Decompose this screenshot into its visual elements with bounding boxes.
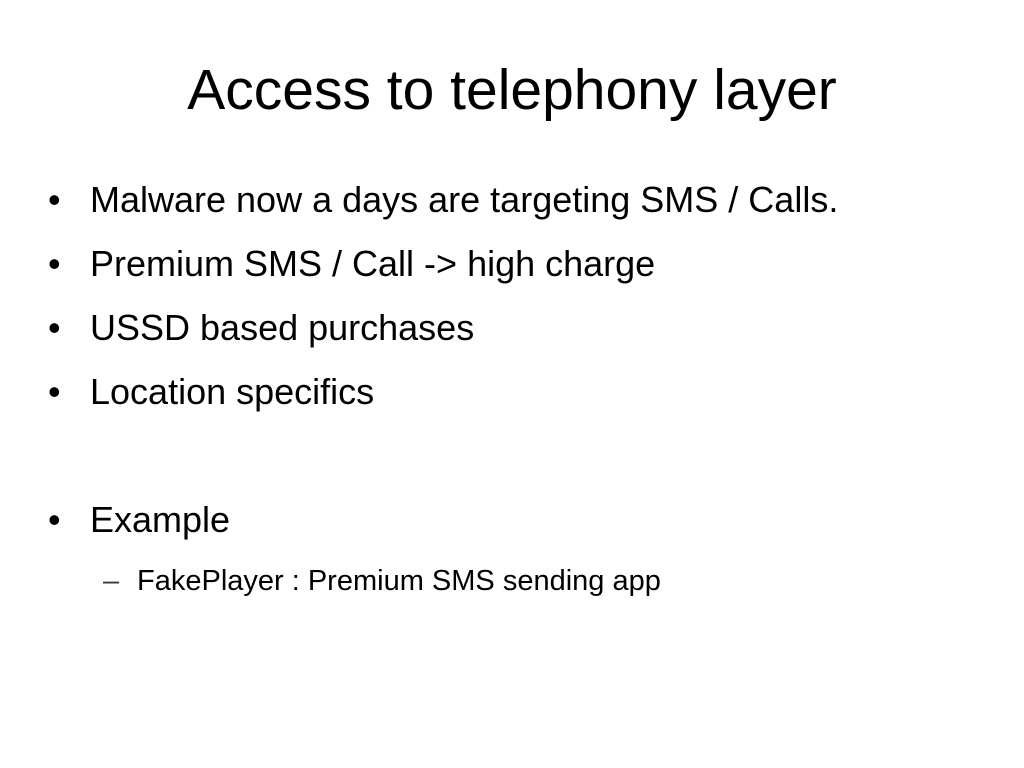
bullet-dot-icon: • — [48, 242, 90, 286]
list-item: • Example — [48, 498, 988, 562]
list-item-label: Location specifics — [90, 370, 988, 414]
list-item-label: Premium SMS / Call -> high charge — [90, 242, 988, 286]
bullet-dot-icon: • — [48, 306, 90, 350]
list-item: • Malware now a days are targeting SMS /… — [48, 178, 988, 242]
bullet-list: • Malware now a days are targeting SMS /… — [48, 178, 988, 620]
blank-line — [48, 434, 988, 498]
bullet-dash-icon: – — [103, 562, 137, 600]
sub-list-item: – FakePlayer : Premium SMS sending app — [48, 562, 988, 620]
presentation-slide: Access to telephony layer • Malware now … — [0, 0, 1024, 768]
sub-list-item-label: FakePlayer : Premium SMS sending app — [137, 562, 988, 600]
list-item: • USSD based purchases — [48, 306, 988, 370]
list-item-label: USSD based purchases — [90, 306, 988, 350]
list-item-label: Malware now a days are targeting SMS / C… — [90, 178, 988, 222]
list-item: • Location specifics — [48, 370, 988, 434]
bullet-dot-icon: • — [48, 178, 90, 222]
list-item-label: Example — [90, 498, 988, 542]
bullet-dot-icon: • — [48, 370, 90, 414]
page-title: Access to telephony layer — [0, 56, 1024, 124]
bullet-dot-icon: • — [48, 498, 90, 542]
list-item: • Premium SMS / Call -> high charge — [48, 242, 988, 306]
